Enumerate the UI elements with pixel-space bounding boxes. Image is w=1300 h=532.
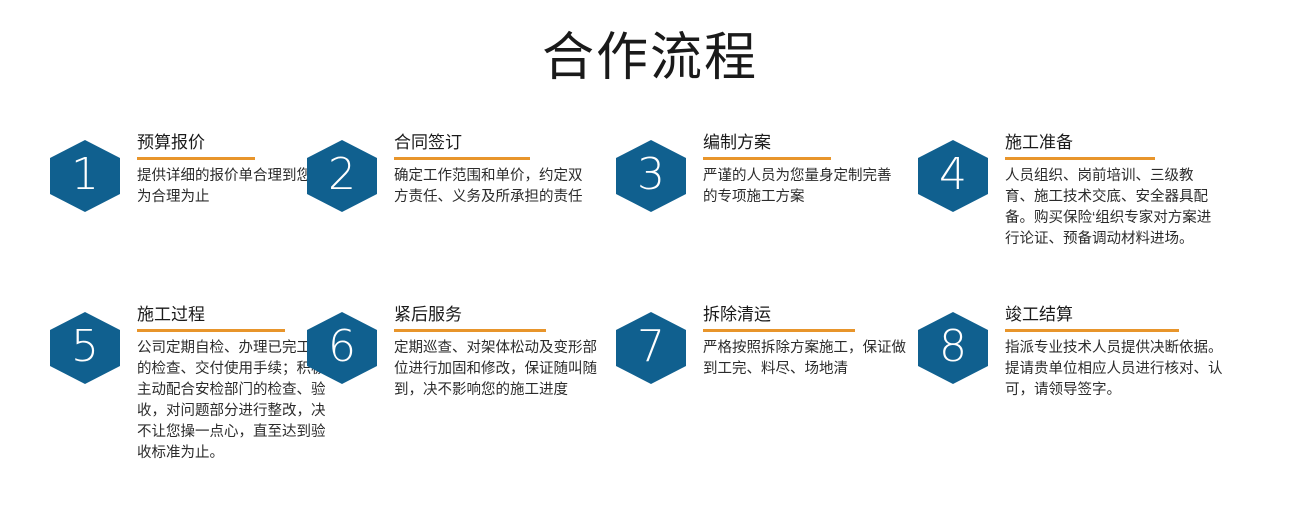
step-underline-rule: [394, 157, 530, 160]
step-description: 严格按照拆除方案施工，保证做到工完、料尽、场地清: [703, 338, 913, 380]
step-body: 预算报价 提供详细的报价单合理到您认为合理为止: [137, 132, 305, 208]
step-title: 拆除清运: [703, 304, 910, 326]
step-underline-rule: [703, 157, 831, 160]
step-number-label: 5: [71, 325, 99, 369]
process-step-row-bottom: 5 施工过程 公司定期自检、办理已完工程的检查、交付使用手续；积极主动配合安检部…: [0, 304, 1300, 464]
process-step-2: 2 合同签订 确定工作范围和单价，约定双方责任、义务及所承担的责任: [305, 132, 610, 212]
step-body: 施工准备 人员组织、岗前培训、三级教育、施工技术交底、安全器具配备。购买保险‘组…: [1005, 132, 1240, 250]
step-title: 施工准备: [1005, 132, 1240, 154]
step-number-label: 4: [939, 153, 967, 197]
step-description: 人员组织、岗前培训、三级教育、施工技术交底、安全器具配备。购买保险‘组织专家对方…: [1005, 166, 1213, 250]
process-step-7: 7 拆除清运 严格按照拆除方案施工，保证做到工完、料尽、场地清: [610, 304, 910, 384]
step-number-label: 3: [637, 153, 665, 197]
step-number-label: 1: [71, 153, 99, 197]
page-title: 合作流程: [0, 26, 1300, 90]
process-step-4: 4 施工准备 人员组织、岗前培训、三级教育、施工技术交底、安全器具配备。购买保险…: [910, 132, 1240, 250]
step-number-hexagon: 5: [50, 312, 120, 384]
step-description: 确定工作范围和单价，约定双方责任、义务及所承担的责任: [394, 166, 592, 208]
step-body: 施工过程 公司定期自检、办理已完工程的检查、交付使用手续；积极主动配合安检部门的…: [137, 304, 305, 464]
step-body: 紧后服务 定期巡查、对架体松动及变形部位进行加固和修改，保证随叫随到，决不影响您…: [394, 304, 610, 401]
process-step-3: 3 编制方案 严谨的人员为您量身定制完善的专项施工方案: [610, 132, 910, 212]
step-number-label: 2: [328, 153, 356, 197]
step-title: 施工过程: [137, 304, 305, 326]
step-underline-rule: [1005, 157, 1155, 160]
step-number-hexagon: 6: [307, 312, 377, 384]
process-step-1: 1 预算报价 提供详细的报价单合理到您认为合理为止: [0, 132, 305, 212]
step-number-label: 7: [637, 325, 665, 369]
step-number-label: 8: [939, 325, 967, 369]
process-step-6: 6 紧后服务 定期巡查、对架体松动及变形部位进行加固和修改，保证随叫随到，决不影…: [305, 304, 610, 401]
step-number-hexagon: 2: [307, 140, 377, 212]
step-title: 预算报价: [137, 132, 305, 154]
step-underline-rule: [703, 329, 855, 332]
process-steps-grid: 1 预算报价 提供详细的报价单合理到您认为合理为止 2 合同签订 确定工作范围和…: [0, 132, 1300, 464]
step-number-hexagon: 7: [616, 312, 686, 384]
step-body: 合同签订 确定工作范围和单价，约定双方责任、义务及所承担的责任: [394, 132, 610, 208]
step-description: 定期巡查、对架体松动及变形部位进行加固和修改，保证随叫随到，决不影响您的施工进度: [394, 338, 604, 401]
step-description: 严谨的人员为您量身定制完善的专项施工方案: [703, 166, 901, 208]
step-title: 编制方案: [703, 132, 910, 154]
step-number-hexagon: 8: [918, 312, 988, 384]
process-step-5: 5 施工过程 公司定期自检、办理已完工程的检查、交付使用手续；积极主动配合安检部…: [0, 304, 305, 464]
process-step-8: 8 竣工结算 指派专业技术人员提供决断依据。提请贵单位相应人员进行核对、认可，请…: [910, 304, 1240, 401]
step-number-hexagon: 4: [918, 140, 988, 212]
process-step-row-top: 1 预算报价 提供详细的报价单合理到您认为合理为止 2 合同签订 确定工作范围和…: [0, 132, 1300, 304]
step-underline-rule: [137, 157, 255, 160]
step-underline-rule: [137, 329, 285, 332]
step-title: 紧后服务: [394, 304, 610, 326]
step-description: 指派专业技术人员提供决断依据。提请贵单位相应人员进行核对、认可，请领导签字。: [1005, 338, 1230, 401]
step-number-hexagon: 1: [50, 140, 120, 212]
step-body: 编制方案 严谨的人员为您量身定制完善的专项施工方案: [703, 132, 910, 208]
step-underline-rule: [1005, 329, 1179, 332]
step-title: 竣工结算: [1005, 304, 1240, 326]
step-underline-rule: [394, 329, 546, 332]
step-body: 拆除清运 严格按照拆除方案施工，保证做到工完、料尽、场地清: [703, 304, 910, 380]
step-body: 竣工结算 指派专业技术人员提供决断依据。提请贵单位相应人员进行核对、认可，请领导…: [1005, 304, 1240, 401]
step-title: 合同签订: [394, 132, 610, 154]
step-number-label: 6: [328, 325, 356, 369]
step-number-hexagon: 3: [616, 140, 686, 212]
